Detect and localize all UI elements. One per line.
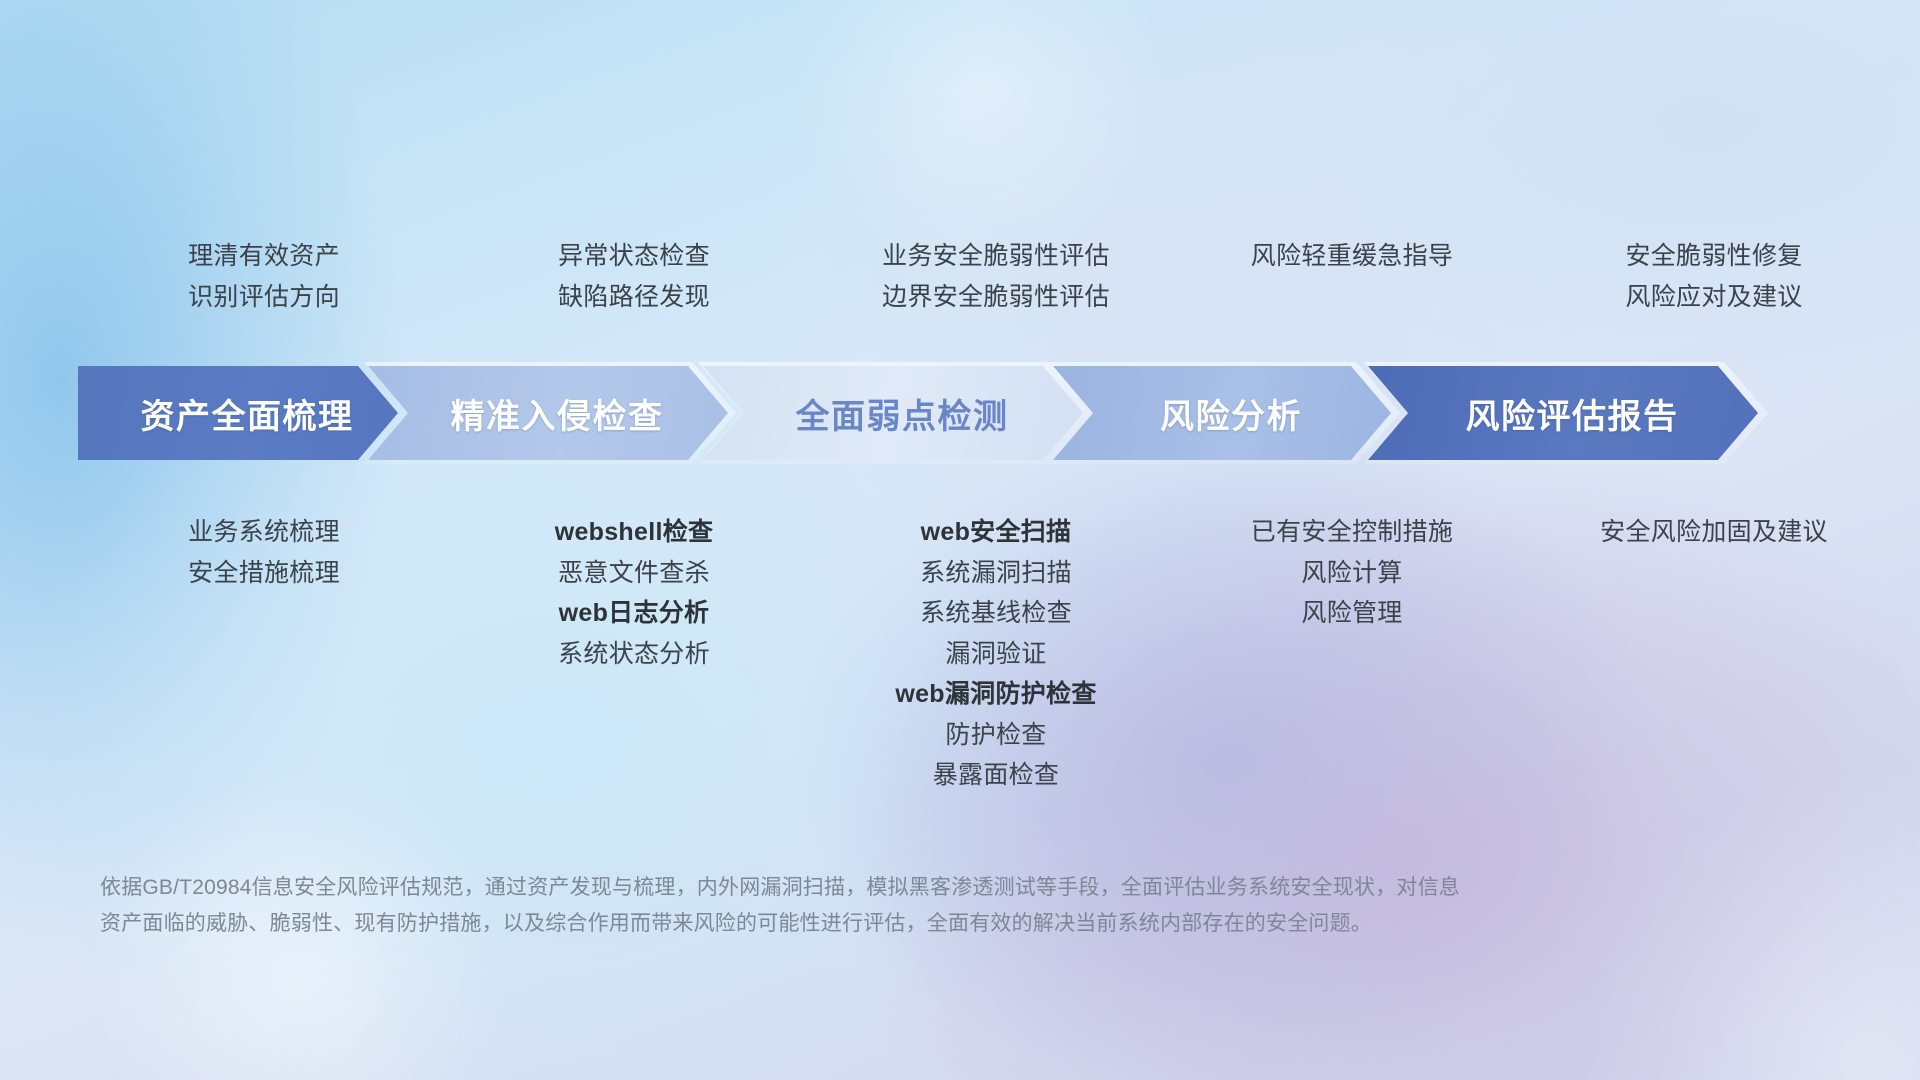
footer-line: 资产面临的威胁、脆弱性、现有防护措施，以及综合作用而带来风险的可能性进行评估，全… — [100, 906, 1620, 942]
top-col-intrusion-check: 异常状态检查 缺陷路径发现 — [450, 236, 818, 317]
stage-chevron-label: 全面弱点检测 — [778, 389, 1009, 438]
top-item: 缺陷路径发现 — [450, 277, 818, 318]
stage-top-descriptions: 理清有效资产 识别评估方向 异常状态检查 缺陷路径发现 业务安全脆弱性评估 边界… — [78, 236, 1880, 317]
activity-item: web日志分析 — [450, 593, 818, 634]
activity-item: 系统基线检查 — [818, 593, 1174, 634]
stage-bottom-activities: 业务系统梳理 安全措施梳理 webshell检查 恶意文件查杀 web日志分析 … — [78, 512, 1880, 796]
stage-chevron-label: 风险评估报告 — [1448, 389, 1679, 438]
activity-item: 恶意文件查杀 — [450, 553, 818, 594]
bottom-col-asset-inventory: 业务系统梳理 安全措施梳理 — [78, 512, 450, 796]
activity-item: 防护检查 — [818, 715, 1174, 756]
activity-item: 风险计算 — [1174, 553, 1530, 594]
bottom-col-risk-report: 安全风险加固及建议 — [1530, 512, 1898, 796]
activity-item: 安全措施梳理 — [78, 553, 450, 594]
top-item: 异常状态检查 — [450, 236, 818, 277]
top-item: 安全脆弱性修复 — [1530, 236, 1898, 277]
activity-item: 漏洞验证 — [818, 634, 1174, 675]
bottom-col-intrusion-check: webshell检查 恶意文件查杀 web日志分析 系统状态分析 — [450, 512, 818, 796]
activity-item: 风险管理 — [1174, 593, 1530, 634]
activity-item: web漏洞防护检查 — [818, 674, 1174, 715]
bottom-col-weakness-detection: web安全扫描 系统漏洞扫描 系统基线检查 漏洞验证 web漏洞防护检查 防护检… — [818, 512, 1174, 796]
stage-chevron-weakness-detection[interactable]: 全面弱点检测 — [703, 366, 1083, 460]
activity-item: 系统漏洞扫描 — [818, 553, 1174, 594]
top-item: 风险应对及建议 — [1530, 277, 1898, 318]
footer-description: 依据GB/T20984信息安全风险评估规范，通过资产发现与梳理，内外网漏洞扫描，… — [100, 870, 1620, 941]
top-item: 风险轻重缓急指导 — [1174, 236, 1530, 277]
slide-canvas: 理清有效资产 识别评估方向 异常状态检查 缺陷路径发现 业务安全脆弱性评估 边界… — [0, 0, 1920, 1080]
footer-line: 依据GB/T20984信息安全风险评估规范，通过资产发现与梳理，内外网漏洞扫描，… — [100, 870, 1620, 906]
top-col-weakness-detection: 业务安全脆弱性评估 边界安全脆弱性评估 — [818, 236, 1174, 317]
stage-chevron-intrusion-check[interactable]: 精准入侵检查 — [368, 366, 728, 460]
stage-chevron-risk-analysis[interactable]: 风险分析 — [1053, 366, 1391, 460]
bottom-col-risk-analysis: 已有安全控制措施 风险计算 风险管理 — [1174, 512, 1530, 796]
stage-chevron-risk-report[interactable]: 风险评估报告 — [1368, 366, 1758, 460]
stage-chevron-label: 精准入侵检查 — [433, 389, 664, 438]
stage-chevron-label: 资产全面梳理 — [123, 389, 354, 438]
process-chevron-band: 资产全面梳理 精准入侵检查 全面弱点检测 风险分析 风险评估报告 — [78, 366, 1878, 460]
top-item: 业务安全脆弱性评估 — [818, 236, 1174, 277]
top-col-risk-report: 安全脆弱性修复 风险应对及建议 — [1530, 236, 1898, 317]
activity-item: 暴露面检查 — [818, 755, 1174, 796]
top-col-risk-analysis: 风险轻重缓急指导 — [1174, 236, 1530, 317]
activity-item: webshell检查 — [450, 512, 818, 553]
top-item: 理清有效资产 — [78, 236, 450, 277]
stage-chevron-asset-inventory[interactable]: 资产全面梳理 — [78, 366, 398, 460]
activity-item: 业务系统梳理 — [78, 512, 450, 553]
top-col-asset-inventory: 理清有效资产 识别评估方向 — [78, 236, 450, 317]
top-item: 识别评估方向 — [78, 277, 450, 318]
activity-item: web安全扫描 — [818, 512, 1174, 553]
activity-item: 安全风险加固及建议 — [1530, 512, 1898, 553]
activity-item: 已有安全控制措施 — [1174, 512, 1530, 553]
top-item: 边界安全脆弱性评估 — [818, 277, 1174, 318]
activity-item: 系统状态分析 — [450, 634, 818, 675]
stage-chevron-label: 风险分析 — [1142, 389, 1302, 438]
